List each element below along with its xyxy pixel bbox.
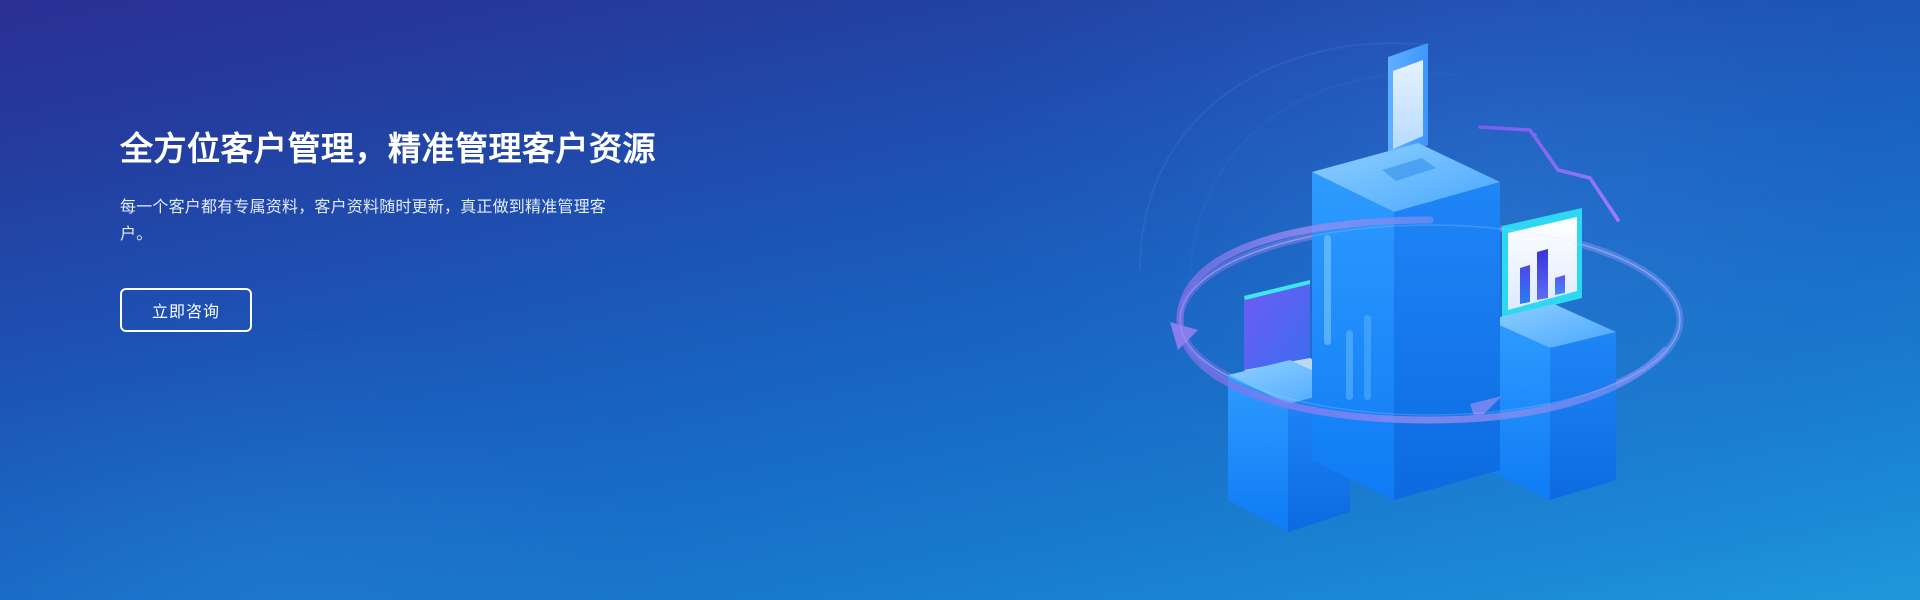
pillar-center bbox=[1312, 43, 1500, 500]
hero-copy: 全方位客户管理，精准管理客户资源 每一个客户都有专属资料，客户资料随时更新，真正… bbox=[120, 128, 760, 332]
page-title: 全方位客户管理，精准管理客户资源 bbox=[120, 128, 760, 169]
connector-line bbox=[1480, 127, 1618, 220]
background-glow-left bbox=[0, 330, 720, 600]
hero-banner: 全方位客户管理，精准管理客户资源 每一个客户都有专属资料，客户资料随时更新，真正… bbox=[0, 0, 1920, 600]
consult-now-button[interactable]: 立即咨询 bbox=[120, 288, 252, 332]
hero-illustration bbox=[1150, 30, 1710, 575]
hero-subtitle: 每一个客户都有专属资料，客户资料随时更新，真正做到精准管理客户。 bbox=[120, 195, 610, 248]
tablet-icon bbox=[1388, 43, 1428, 162]
